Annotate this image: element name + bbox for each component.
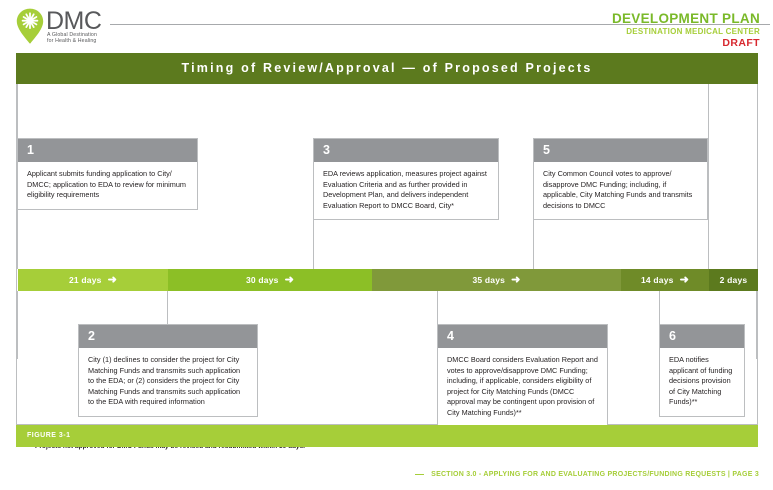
footer-dash-icon	[415, 474, 424, 476]
footer-section-label: SECTION 3.0 - APPLYING FOR AND EVALUATIN…	[431, 471, 759, 478]
arrow-right-icon: ➜	[285, 276, 294, 284]
step-3-number: 3	[314, 139, 498, 162]
step-1-number: 1	[18, 139, 197, 162]
figure-container: Timing of Review/Approval — of Proposed …	[16, 53, 758, 447]
step-box-4[interactable]: 4 DMCC Board considers Evaluation Report…	[437, 324, 608, 428]
figure-caption-bar: FIGURE 3-1	[16, 425, 758, 447]
development-plan-title: DEVELOPMENT PLAN	[612, 12, 760, 26]
destination-medical-center-subtitle: DESTINATION MEDICAL CENTER	[612, 26, 760, 37]
step-5-number: 5	[534, 139, 707, 162]
header-title-block: DEVELOPMENT PLAN DESTINATION MEDICAL CEN…	[612, 12, 760, 49]
timeline-segment-5: 2 days	[709, 269, 758, 291]
connector-line-step6	[659, 291, 660, 324]
figure-body: 1 Applicant submits funding application …	[16, 84, 758, 425]
arrow-right-icon: ➜	[680, 276, 689, 284]
timeline-segment-3: 35 days➜	[372, 269, 621, 291]
step-6-text: EDA notifies applicant of funding decisi…	[660, 348, 744, 416]
step-2-text: City (1) declines to consider the projec…	[79, 348, 257, 416]
timeline-segment-3-label: 35 days	[472, 275, 505, 285]
step-box-6[interactable]: 6 EDA notifies applicant of funding deci…	[659, 324, 745, 417]
timeline-segment-2: 30 days➜	[168, 269, 372, 291]
step-box-1[interactable]: 1 Applicant submits funding application …	[17, 138, 198, 210]
logo-wordmark: DMC	[46, 9, 101, 34]
connector-line-right-edge	[756, 291, 757, 359]
logo-tagline: A Global Destination for Health & Healin…	[47, 32, 97, 45]
step-4-number: 4	[438, 325, 607, 348]
connector-line-step2-drop	[17, 291, 18, 359]
timeline-segment-1-label: 21 days	[69, 275, 102, 285]
connector-line-tl-seg5-end	[708, 84, 709, 269]
timeline-segment-1: 21 days➜	[18, 269, 168, 291]
timeline-bar: 21 days➜30 days➜35 days➜14 days➜2 days	[18, 269, 758, 291]
page-header: DMC A Global Destination for Health & He…	[0, 0, 773, 52]
step-2-number: 2	[79, 325, 257, 348]
page-footer: SECTION 3.0 - APPLYING FOR AND EVALUATIN…	[415, 471, 759, 478]
figure-caption-label: FIGURE 3-1	[27, 432, 71, 439]
arrow-right-icon: ➜	[108, 276, 117, 284]
figure-title-bar: Timing of Review/Approval — of Proposed …	[16, 53, 758, 84]
figure-title: Timing of Review/Approval — of Proposed …	[16, 61, 758, 75]
step-3-text: EDA reviews application, measures projec…	[314, 162, 498, 219]
timeline-segment-4-label: 14 days	[641, 275, 674, 285]
arrow-right-icon: ➜	[511, 276, 520, 284]
step-box-3[interactable]: 3 EDA reviews application, measures proj…	[313, 138, 499, 220]
dmc-logo: DMC A Global Destination for Health & He…	[16, 8, 136, 44]
step-5-text: City Common Council votes to approve/ di…	[534, 162, 707, 219]
timeline-segment-5-label: 2 days	[720, 275, 748, 285]
timeline-segment-4: 14 days➜	[621, 269, 709, 291]
step-box-5[interactable]: 5 City Common Council votes to approve/ …	[533, 138, 708, 220]
step-6-number: 6	[660, 325, 744, 348]
dmc-pin-logo-icon	[16, 8, 44, 44]
connector-line-step4	[437, 291, 438, 324]
timeline-segment-2-label: 30 days	[246, 275, 279, 285]
step-box-2[interactable]: 2 City (1) declines to consider the proj…	[78, 324, 258, 417]
step-4-text: DMCC Board considers Evaluation Report a…	[438, 348, 607, 427]
draft-badge: DRAFT	[612, 37, 760, 49]
connector-line-step2	[167, 291, 168, 324]
step-1-text: Applicant submits funding application to…	[18, 162, 197, 209]
